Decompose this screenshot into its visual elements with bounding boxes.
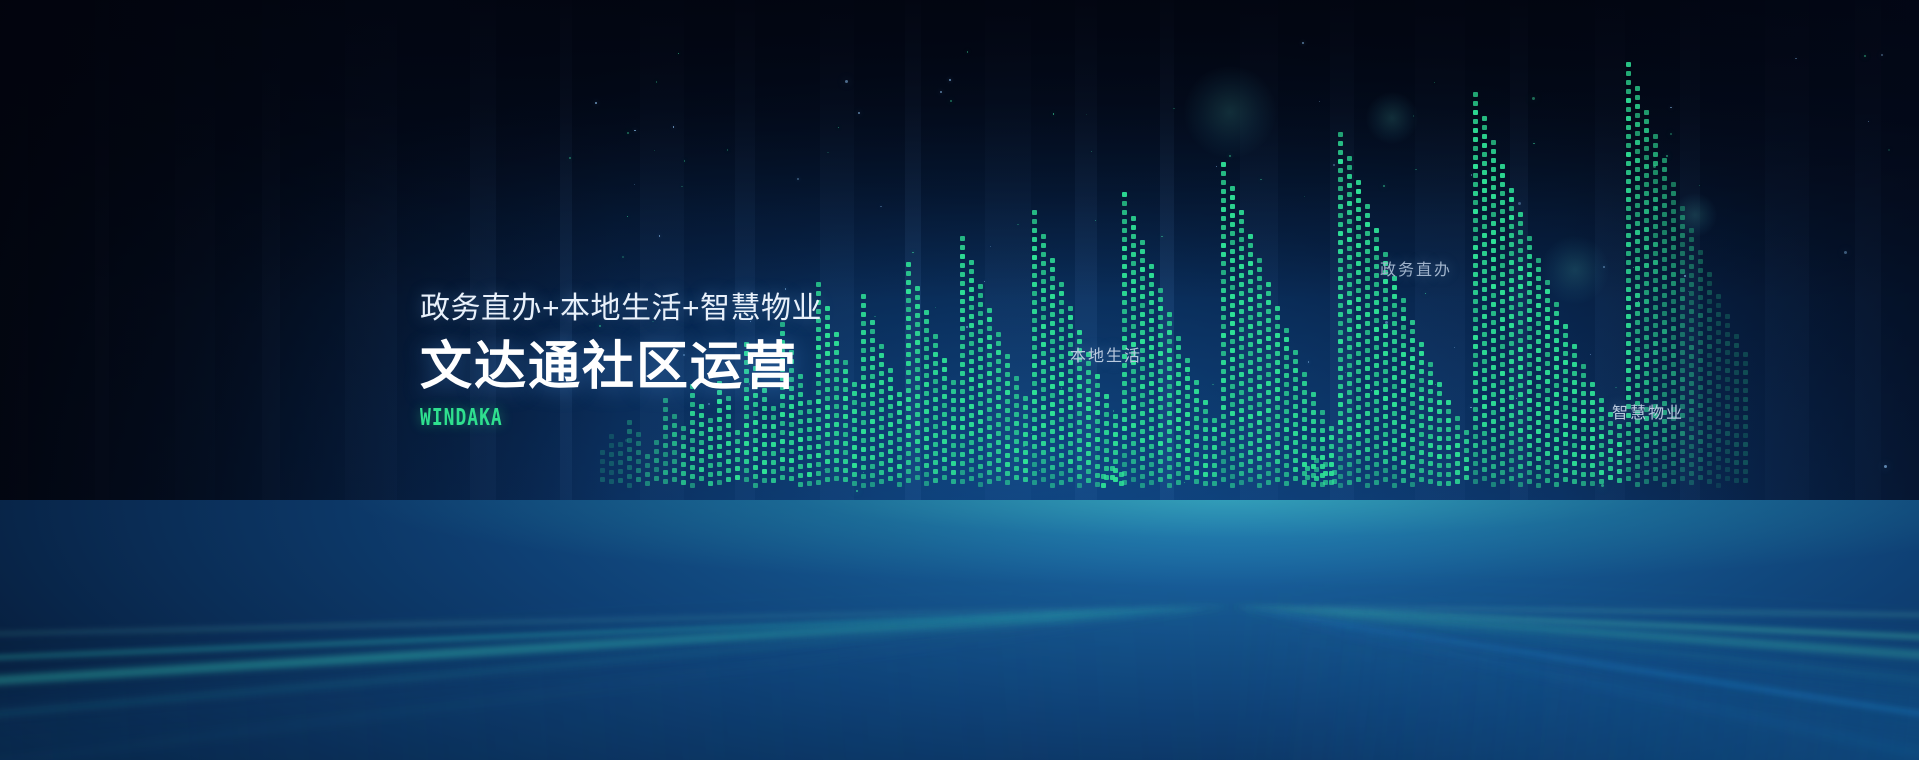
skyline-dot [1149, 426, 1154, 431]
skyline-dot [1005, 399, 1010, 404]
skyline-dot [1347, 174, 1352, 179]
skyline-bar [1419, 342, 1424, 492]
skyline-dot [960, 434, 965, 439]
skyline-dot [1284, 454, 1289, 459]
skyline-dot [1644, 353, 1649, 358]
skyline-dot [987, 443, 992, 448]
skyline-dot [924, 463, 929, 468]
skyline-dot [1491, 221, 1496, 226]
skyline-dot [915, 358, 920, 363]
skyline-dot [942, 439, 947, 444]
skyline-dot [1239, 291, 1244, 296]
skyline-dot [1050, 447, 1055, 452]
skyline-dot [654, 476, 659, 481]
skyline-dot [609, 443, 614, 448]
skyline-dot [960, 362, 965, 367]
skyline-dot [1689, 309, 1694, 314]
skyline-dot [1671, 470, 1676, 475]
skyline-dot [1716, 312, 1721, 317]
skyline-dot [816, 453, 821, 458]
skyline-dot [1131, 306, 1136, 311]
skyline-dot [879, 479, 884, 484]
skyline-bar [1473, 92, 1478, 492]
skyline-dot [1464, 466, 1469, 471]
skyline-dot [1473, 263, 1478, 268]
skyline-dot [1698, 313, 1703, 318]
skyline-dot [1572, 443, 1577, 448]
skyline-dot [834, 422, 839, 427]
skyline-dot [672, 432, 677, 437]
skyline-dot [1581, 373, 1586, 378]
skyline-dot [771, 442, 776, 447]
skyline-dot [1005, 354, 1010, 359]
skyline-dot [1383, 459, 1388, 464]
skyline-dot [1500, 389, 1505, 394]
skyline-dot [1347, 417, 1352, 422]
skyline-dot [1293, 359, 1298, 364]
skyline-dot [1149, 318, 1154, 323]
skyline-dot [1716, 411, 1721, 416]
skyline-dot [1257, 294, 1262, 299]
skyline-dot [834, 476, 839, 481]
skyline-dot [1653, 188, 1658, 193]
skyline-dot [1689, 228, 1694, 233]
skyline-dot [1032, 291, 1037, 296]
skyline-dot [1716, 303, 1721, 308]
skyline-dot [1545, 361, 1550, 366]
skyline-dot [1059, 363, 1064, 368]
skyline-dot [969, 413, 974, 418]
skyline-dot [1509, 206, 1514, 211]
skyline-dot [1725, 449, 1730, 454]
skyline-dot [1536, 294, 1541, 299]
skyline-dot [1662, 347, 1667, 352]
skyline-dot [1653, 179, 1658, 184]
skyline-dot [1707, 299, 1712, 304]
skyline-dot [1563, 477, 1568, 482]
skyline-bar [1221, 162, 1226, 492]
skyline-bar [1167, 312, 1172, 492]
skyline-dot [1482, 152, 1487, 157]
skyline-dot [1356, 297, 1361, 302]
skyline-dot [1545, 289, 1550, 294]
skyline-dot [1662, 176, 1667, 181]
skyline-dot [1491, 365, 1496, 370]
skyline-dot [1194, 389, 1199, 394]
skyline-dot [1338, 186, 1343, 191]
skyline-dot [1050, 384, 1055, 389]
skyline-dot [618, 451, 623, 456]
skyline-dot [1374, 228, 1379, 233]
skyline-dot [987, 380, 992, 385]
skyline-dot [1050, 393, 1055, 398]
skyline-dot [1050, 375, 1055, 380]
skyline-dot [1356, 414, 1361, 419]
skyline-dot [1491, 419, 1496, 424]
skyline-dot [1041, 243, 1046, 248]
skyline-dot [1671, 461, 1676, 466]
skyline-dot [1509, 332, 1514, 337]
skyline-dot [897, 464, 902, 469]
skyline-dot [1644, 461, 1649, 466]
skyline-dot [1122, 237, 1127, 242]
skyline-dot [1644, 281, 1649, 286]
skyline-bar [1410, 320, 1415, 492]
skyline-dot [1491, 473, 1496, 478]
skyline-bar [1680, 206, 1685, 492]
skyline-dot [1131, 333, 1136, 338]
skyline-dot [1536, 483, 1541, 488]
skyline-dot [1662, 446, 1667, 451]
skyline-dot [1068, 432, 1073, 437]
skyline-dot [1491, 446, 1496, 451]
skyline-dot [1707, 281, 1712, 286]
skyline-dot [1149, 408, 1154, 413]
skyline-dot [1194, 434, 1199, 439]
skyline-dot [1356, 369, 1361, 374]
skyline-dot [942, 475, 947, 480]
skyline-dot [960, 389, 965, 394]
skyline-dot [1311, 401, 1316, 406]
skyline-dot [1518, 419, 1523, 424]
skyline-dot [1059, 318, 1064, 323]
skyline-dot [1041, 324, 1046, 329]
skyline-dot [987, 425, 992, 430]
skyline-dot [1644, 254, 1649, 259]
skyline-dot [825, 360, 830, 365]
skyline-dot [1032, 219, 1037, 224]
skyline-dot [1743, 478, 1748, 483]
skyline-dot [1410, 437, 1415, 442]
skyline-dot [1221, 351, 1226, 356]
skyline-dot [681, 444, 686, 449]
skyline-dot [1356, 315, 1361, 320]
skyline-dot [1599, 461, 1604, 466]
skyline-bar [1275, 306, 1280, 492]
skyline-dot [1635, 338, 1640, 343]
skyline-dot [1176, 417, 1181, 422]
skyline-dot [1617, 451, 1622, 456]
skyline-dot [960, 236, 965, 241]
skyline-dot [1518, 338, 1523, 343]
skyline-dot [906, 280, 911, 285]
skyline-dot [1302, 399, 1307, 404]
skyline-dot [1698, 250, 1703, 255]
skyline-dot [870, 464, 875, 469]
skyline-dot [1374, 282, 1379, 287]
skyline-dot [1743, 442, 1748, 447]
skyline-dot [1527, 371, 1532, 376]
skyline-dot [1500, 209, 1505, 214]
skyline-dot [978, 419, 983, 424]
skyline-dot [1743, 433, 1748, 438]
skyline-dot [1221, 387, 1226, 392]
skyline-dot [1707, 470, 1712, 475]
skyline-dot [1365, 366, 1370, 371]
skyline-dot [1347, 282, 1352, 287]
skyline-dot [933, 343, 938, 348]
skyline-dot [654, 467, 659, 472]
skyline-bar [1707, 272, 1712, 492]
skyline-dot [1239, 399, 1244, 404]
skyline-dot [1401, 478, 1406, 483]
skyline-dot [1032, 246, 1037, 251]
skyline-dot [1518, 221, 1523, 226]
skyline-dot [1671, 236, 1676, 241]
skyline-dot [1158, 351, 1163, 356]
skyline-dot [1383, 324, 1388, 329]
skyline-dot [1311, 410, 1316, 415]
skyline-dot [1662, 248, 1667, 253]
skyline-dot [699, 431, 704, 436]
skyline-dot [1716, 402, 1721, 407]
skyline-dot [1500, 434, 1505, 439]
skyline-dot [1221, 189, 1226, 194]
skyline-dot [1185, 403, 1190, 408]
skyline-dot [1356, 189, 1361, 194]
skyline-dot [1230, 429, 1235, 434]
skyline-dot [1023, 450, 1028, 455]
skyline-dot [1050, 348, 1055, 353]
skyline-dot [1437, 481, 1442, 486]
skyline-dot [1149, 264, 1154, 269]
skyline-dot [1392, 312, 1397, 317]
skyline-dot [780, 466, 785, 471]
skyline-dot [1176, 345, 1181, 350]
skyline-dot [1626, 224, 1631, 229]
skyline-dot [942, 412, 947, 417]
skyline-dot [816, 282, 821, 287]
skyline-dot [1149, 282, 1154, 287]
skyline-dot [1509, 260, 1514, 265]
skyline-dot [1437, 409, 1442, 414]
skyline-dot [1716, 447, 1721, 452]
skyline-dot [924, 427, 929, 432]
skyline-dot [1257, 339, 1262, 344]
skyline-dot [1554, 302, 1559, 307]
skyline-dot [1248, 423, 1253, 428]
skyline-dot [969, 359, 974, 364]
skyline-dot [1509, 233, 1514, 238]
skyline-dot [1212, 418, 1217, 423]
skyline-dot [1662, 473, 1667, 478]
skyline-dot [1365, 348, 1370, 353]
skyline-dot [1500, 272, 1505, 277]
skyline-dot [1689, 444, 1694, 449]
skyline-dot [1041, 270, 1046, 275]
skyline-dot [1554, 482, 1559, 487]
skyline-dot [987, 452, 992, 457]
skyline-dot [1644, 308, 1649, 313]
skyline-dot [1167, 420, 1172, 425]
skyline-dot [924, 382, 929, 387]
skyline-dot [1347, 462, 1352, 467]
skyline-dot [780, 430, 785, 435]
skyline-dot [1689, 381, 1694, 386]
skyline-dot [924, 391, 929, 396]
skyline-label-1: 本地生活 [1070, 342, 1142, 366]
skyline-dot [1050, 402, 1055, 407]
skyline-bar [924, 310, 929, 492]
skyline-dot [1230, 474, 1235, 479]
skyline-dot [1338, 393, 1343, 398]
skyline-dot [861, 366, 866, 371]
skyline-dot [1338, 240, 1343, 245]
skyline-dot [1383, 396, 1388, 401]
skyline-dot [1005, 453, 1010, 458]
skyline-dot [834, 395, 839, 400]
skyline-dot [915, 286, 920, 291]
skyline-dot [951, 407, 956, 412]
skyline-dot [1248, 432, 1253, 437]
skyline-dot [1005, 471, 1010, 476]
skyline-dot [825, 468, 830, 473]
skyline-dot [1671, 200, 1676, 205]
skyline-dot [951, 380, 956, 385]
skyline-dot [924, 454, 929, 459]
skyline-dot [1059, 291, 1064, 296]
skyline-dot [834, 350, 839, 355]
skyline-dot [1323, 471, 1328, 476]
skyline-bar [1581, 364, 1586, 492]
skyline-dot [852, 418, 857, 423]
skyline-dot [1095, 410, 1100, 415]
skyline-dot [1203, 400, 1208, 405]
skyline-dot [852, 400, 857, 405]
skyline-dot [915, 340, 920, 345]
skyline-dot [708, 454, 713, 459]
skyline-dot [969, 431, 974, 436]
skyline-dot [1671, 317, 1676, 322]
skyline-dot [1248, 342, 1253, 347]
skyline-dot [663, 443, 668, 448]
skyline-dot [1239, 444, 1244, 449]
skyline-dot [780, 457, 785, 462]
skyline-dot [1500, 425, 1505, 430]
skyline-dot [1032, 372, 1037, 377]
skyline-dot [888, 368, 893, 373]
skyline-dot [1527, 299, 1532, 304]
skyline-dot [915, 421, 920, 426]
skyline-dot [1167, 357, 1172, 362]
skyline-dot [1455, 425, 1460, 430]
skyline-dot [1041, 333, 1046, 338]
skyline-dot [1014, 475, 1019, 480]
skyline-dot [1320, 437, 1325, 442]
skyline-dot [969, 476, 974, 481]
skyline-dot [1104, 466, 1109, 471]
skyline-dot [1230, 258, 1235, 263]
skyline-dot [1347, 156, 1352, 161]
skyline-dot [870, 365, 875, 370]
skyline-dot [1518, 257, 1523, 262]
skyline-dot [1707, 371, 1712, 376]
skyline-bar [654, 440, 659, 492]
skyline-dot [1563, 387, 1568, 392]
skyline-dot [1140, 303, 1145, 308]
skyline-dot [1068, 423, 1073, 428]
skyline-dot [1293, 377, 1298, 382]
skyline-dot [1545, 415, 1550, 420]
skyline-dot [915, 439, 920, 444]
skyline-dot [1626, 386, 1631, 391]
skyline-dot [1680, 431, 1685, 436]
skyline-dot [978, 482, 983, 487]
skyline-dot [1491, 248, 1496, 253]
skyline-bar [1509, 188, 1514, 492]
skyline-dot [1689, 462, 1694, 467]
skyline-dot [1626, 80, 1631, 85]
skyline-dot [1626, 440, 1631, 445]
skyline-dot [1329, 462, 1334, 467]
skyline-dot [1401, 460, 1406, 465]
skyline-dot [1698, 286, 1703, 291]
skyline-dot [933, 433, 938, 438]
skyline-dot [969, 296, 974, 301]
skyline-dot [1176, 390, 1181, 395]
skyline-dot [780, 439, 785, 444]
skyline-dot [1239, 390, 1244, 395]
skyline-dot [1149, 336, 1154, 341]
skyline-dot [1743, 460, 1748, 465]
skyline-dot [735, 457, 740, 462]
skyline-dot [1050, 312, 1055, 317]
skyline-dot [1581, 409, 1586, 414]
skyline-dot [1338, 375, 1343, 380]
skyline-dot [771, 478, 776, 483]
skyline-dot [1626, 233, 1631, 238]
skyline-dot [1689, 264, 1694, 269]
skyline-dot [1644, 209, 1649, 214]
skyline-dot [1347, 264, 1352, 269]
skyline-dot [1482, 395, 1487, 400]
skyline-bar [1119, 472, 1124, 492]
skyline-dot [1698, 349, 1703, 354]
skyline-dot [708, 445, 713, 450]
skyline-dot [1239, 309, 1244, 314]
skyline-dot [1158, 405, 1163, 410]
skyline-dot [1428, 407, 1433, 412]
skyline-dot [1554, 473, 1559, 478]
skyline-dot [1644, 362, 1649, 367]
skyline-dot [744, 441, 749, 446]
skyline-dot [1509, 269, 1514, 274]
skyline-dot [1437, 472, 1442, 477]
skyline-dot [1095, 455, 1100, 460]
skyline-dot [1176, 399, 1181, 404]
skyline-dot [1239, 219, 1244, 224]
skyline-dot [1491, 311, 1496, 316]
skyline-dot [1356, 342, 1361, 347]
skyline-dot [825, 450, 830, 455]
skyline-dot [1500, 326, 1505, 331]
skyline-dot [1626, 170, 1631, 175]
skyline-dot [1491, 428, 1496, 433]
skyline-dot [1653, 341, 1658, 346]
skyline-dot [1518, 374, 1523, 379]
skyline-dot [1662, 455, 1667, 460]
skyline-dot [1338, 357, 1343, 362]
skyline-dot [1473, 398, 1478, 403]
skyline-dot [1743, 388, 1748, 393]
skyline-dot [1545, 388, 1550, 393]
skyline-dot [1491, 455, 1496, 460]
skyline-dot [1671, 362, 1676, 367]
skyline-dot [969, 395, 974, 400]
skyline-dot [987, 416, 992, 421]
skyline-dot [1473, 470, 1478, 475]
skyline-dot [978, 329, 983, 334]
